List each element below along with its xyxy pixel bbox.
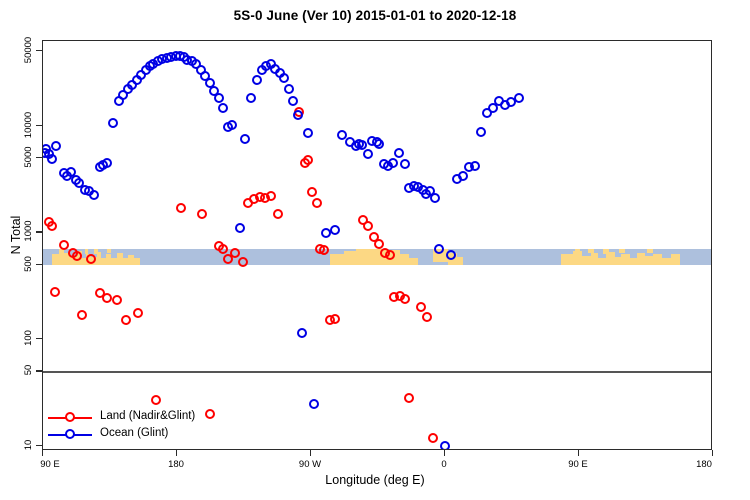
data-point <box>428 433 438 443</box>
x-axis-label: Longitude (deg E) <box>0 473 750 487</box>
y-tick-label: 50 <box>24 365 34 376</box>
data-point <box>59 240 69 250</box>
data-point <box>102 293 112 303</box>
land-patch <box>575 249 581 254</box>
land-patch <box>400 254 409 265</box>
data-point <box>303 155 313 165</box>
x-tick-label: 90 E <box>568 459 588 470</box>
land-patch <box>621 254 630 264</box>
land-patch <box>647 249 653 253</box>
legend-label: Land (Nadir&Glint) <box>100 410 195 422</box>
y-tick-label: 5000 <box>24 146 34 167</box>
land-patch <box>94 249 98 254</box>
data-point <box>416 302 426 312</box>
data-point <box>51 141 61 151</box>
data-point <box>108 118 118 128</box>
land-patch <box>107 249 111 253</box>
legend-marker <box>65 429 75 439</box>
data-point <box>470 161 480 171</box>
data-point <box>246 93 256 103</box>
land-patch <box>630 258 637 264</box>
data-point <box>374 139 384 149</box>
land-patch <box>588 249 594 253</box>
data-point <box>284 84 294 94</box>
y-tick-label: 100 <box>24 330 34 346</box>
plot-area[interactable] <box>42 40 712 450</box>
data-point <box>86 254 96 264</box>
data-point <box>309 399 319 409</box>
land-patch <box>330 254 343 264</box>
data-point <box>458 171 468 181</box>
data-point <box>404 393 414 403</box>
y-tick-label: 10 <box>24 440 34 451</box>
land-patch <box>85 249 88 254</box>
data-point <box>446 250 456 260</box>
data-point <box>252 75 262 85</box>
legend-item: Ocean (Glint) <box>48 426 238 443</box>
land-patch <box>637 253 644 265</box>
data-point <box>89 190 99 200</box>
land-patch <box>671 254 680 264</box>
data-point <box>312 198 322 208</box>
x-tick-label: 0 <box>441 459 446 470</box>
data-point <box>422 312 432 322</box>
data-point <box>330 225 340 235</box>
x-tick-label: 180 <box>168 459 184 470</box>
x-tick-mark <box>712 450 713 456</box>
land-patch <box>603 249 609 254</box>
data-point <box>214 93 224 103</box>
y-tick-label: 1000 <box>24 221 34 242</box>
reference-line <box>43 371 711 372</box>
data-point <box>102 158 112 168</box>
y-axis-ticks: 1050100500100050001000050000 <box>0 40 42 450</box>
data-point <box>235 223 245 233</box>
land-patch <box>356 249 383 265</box>
data-point <box>273 209 283 219</box>
coastline-map-band <box>43 249 711 265</box>
data-point <box>400 294 410 304</box>
y-tick-label: 50000 <box>24 37 34 63</box>
data-point <box>440 441 450 450</box>
land-patch <box>582 256 591 265</box>
land-patch <box>409 258 418 265</box>
chart-title: 5S-0 June (Ver 10) 2015-01-01 to 2020-12… <box>0 8 750 23</box>
data-point <box>279 73 289 83</box>
land-patch <box>134 258 140 265</box>
data-point <box>176 203 186 213</box>
land-patch <box>344 251 356 265</box>
y-tick-label: 500 <box>24 256 34 272</box>
land-patch <box>645 256 654 265</box>
data-point <box>293 110 303 120</box>
data-point <box>50 287 60 297</box>
data-point <box>430 193 440 203</box>
data-point <box>307 187 317 197</box>
x-tick-mark <box>444 450 445 456</box>
data-point <box>121 315 131 325</box>
x-tick-mark <box>176 450 177 456</box>
data-point <box>434 244 444 254</box>
data-point <box>197 209 207 219</box>
x-tick-mark <box>578 450 579 456</box>
land-patch <box>457 257 463 265</box>
data-point <box>47 221 57 231</box>
data-point <box>133 308 143 318</box>
figure: 5S-0 June (Ver 10) 2015-01-01 to 2020-12… <box>0 0 750 500</box>
land-patch <box>653 254 662 265</box>
data-point <box>266 191 276 201</box>
legend-item: Land (Nadir&Glint) <box>48 409 238 426</box>
legend-marker <box>65 412 75 422</box>
land-patch <box>561 254 573 265</box>
data-point <box>330 314 340 324</box>
data-point <box>514 93 524 103</box>
data-point <box>288 96 298 106</box>
data-point <box>297 328 307 338</box>
x-tick-label: 90 E <box>40 459 60 470</box>
land-patch <box>591 253 598 265</box>
data-point <box>112 295 122 305</box>
data-point <box>151 395 161 405</box>
x-tick-mark <box>310 450 311 456</box>
data-point <box>385 250 395 260</box>
x-tick-label: 90 W <box>299 459 321 470</box>
legend: Land (Nadir&Glint)Ocean (Glint) <box>48 409 238 447</box>
y-tick-label: 10000 <box>24 111 34 137</box>
data-point <box>303 128 313 138</box>
legend-label: Ocean (Glint) <box>100 427 168 439</box>
data-point <box>47 154 57 164</box>
x-tick-label: 180 <box>696 459 712 470</box>
data-point <box>227 120 237 130</box>
x-tick-mark <box>42 450 43 456</box>
data-point <box>363 221 373 231</box>
data-point <box>394 148 404 158</box>
land-patch <box>598 258 605 265</box>
data-point <box>238 257 248 267</box>
land-patch <box>662 258 671 265</box>
data-point <box>388 158 398 168</box>
land-patch <box>619 249 625 253</box>
data-point <box>77 310 87 320</box>
data-point <box>476 127 486 137</box>
data-point <box>218 103 228 113</box>
land-patch <box>52 254 59 265</box>
land-patch <box>606 252 615 264</box>
data-point <box>400 159 410 169</box>
data-point <box>363 149 373 159</box>
data-point <box>240 134 250 144</box>
